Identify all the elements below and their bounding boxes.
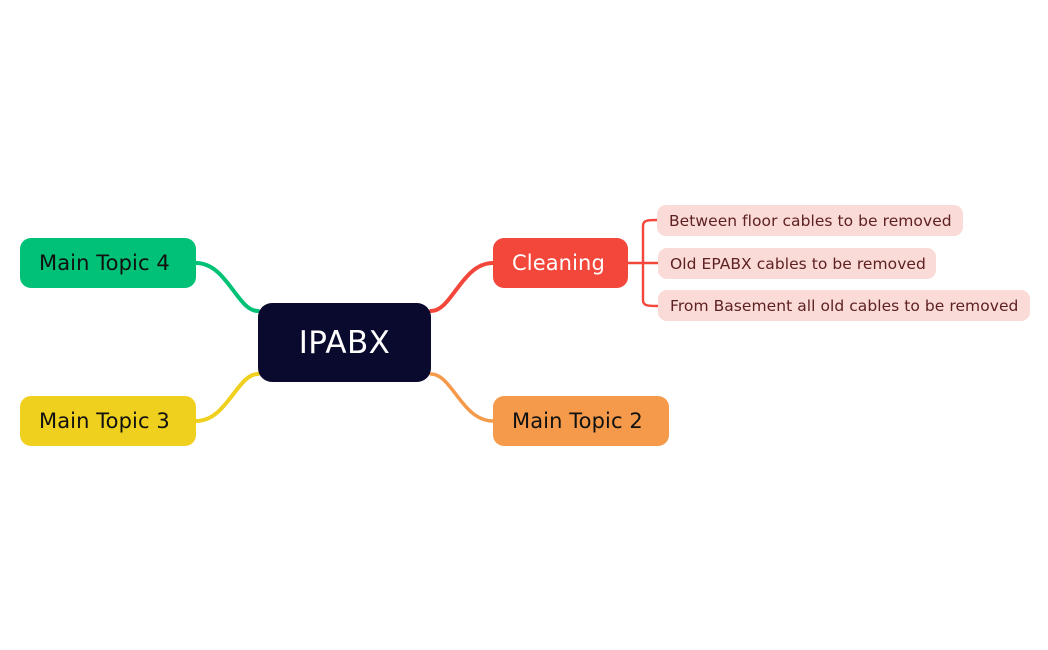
branch-node-cleaning[interactable]: Cleaning	[493, 238, 628, 288]
mindmap-canvas: IPABX CleaningBetween floor cables to be…	[0, 0, 1048, 650]
branch-node-label: Main Topic 4	[39, 251, 170, 275]
subtopic-node-label: From Basement all old cables to be remov…	[670, 297, 1018, 315]
central-node-ipabx[interactable]: IPABX	[258, 303, 431, 382]
bracket-child-1	[643, 220, 657, 226]
subtopic-node-from-basement-cables[interactable]: From Basement all old cables to be remov…	[658, 290, 1030, 321]
branch-node-label: Main Topic 3	[39, 409, 170, 433]
subtopic-node-old-epabx-cables[interactable]: Old EPABX cables to be removed	[658, 248, 936, 279]
central-node-label: IPABX	[299, 325, 391, 361]
branch-node-main-topic-4[interactable]: Main Topic 4	[20, 238, 196, 288]
edge-root-cleaning	[431, 263, 493, 311]
branch-node-main-topic-2[interactable]: Main Topic 2	[493, 396, 669, 446]
edge-root-maintopic3	[196, 374, 258, 421]
branch-node-label: Main Topic 2	[512, 409, 643, 433]
subtopic-node-label: Between floor cables to be removed	[669, 212, 952, 230]
branch-node-main-topic-3[interactable]: Main Topic 3	[20, 396, 196, 446]
connector-layer	[0, 0, 1048, 650]
edge-root-maintopic4	[196, 263, 258, 311]
edge-root-maintopic2	[431, 374, 493, 421]
branch-node-label: Cleaning	[512, 251, 605, 275]
bracket-child-3	[643, 300, 658, 306]
subtopic-node-between-floor-cables[interactable]: Between floor cables to be removed	[657, 205, 963, 236]
subtopic-node-label: Old EPABX cables to be removed	[670, 255, 926, 273]
